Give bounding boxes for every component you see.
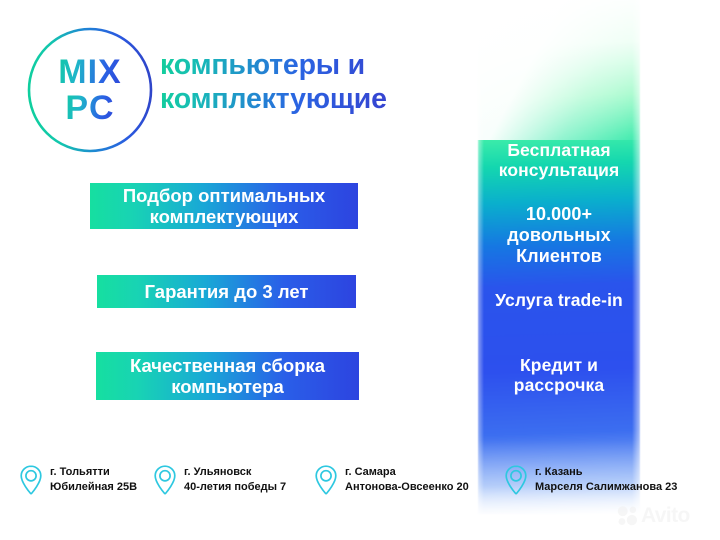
benefit-bar-components: Подбор оптимальных комплектующих xyxy=(90,183,358,229)
brand-logo: MIX PC xyxy=(25,25,155,155)
panel-feature-clients: 10.000+ довольных Клиентов xyxy=(478,204,640,267)
location-address: г. Тольятти Юбилейная 25В xyxy=(50,465,137,495)
logo-line-pc: PC xyxy=(65,91,114,126)
page-title: компьютеры и комплектующие xyxy=(160,49,490,116)
location-city: г. Тольятти xyxy=(50,465,137,480)
avito-watermark: Avito xyxy=(617,505,690,526)
map-pin-icon xyxy=(152,464,178,496)
location-item: г. Ульяновск 40-летия победы 7 xyxy=(152,464,286,496)
location-city: г. Казань xyxy=(535,465,677,480)
location-address: г. Казань Марселя Салимжанова 23 xyxy=(535,465,677,495)
avito-dots-icon xyxy=(617,505,638,526)
panel-feature-consultation: Бесплатная консультация xyxy=(478,140,640,181)
logo-wordmark: MIX PC xyxy=(25,25,155,155)
location-item: г. Самара Антонова-Овсеенко 20 xyxy=(313,464,469,496)
avito-watermark-label: Avito xyxy=(641,505,690,526)
location-street: Антонова-Овсеенко 20 xyxy=(345,480,469,495)
location-street: Юбилейная 25В xyxy=(50,480,137,495)
location-city: г. Самара xyxy=(345,465,469,480)
location-address: г. Самара Антонова-Овсеенко 20 xyxy=(345,465,469,495)
map-pin-icon xyxy=(18,464,44,496)
promo-banner: Бесплатная консультация 10.000+ довольны… xyxy=(0,0,720,540)
benefit-bar-warranty: Гарантия до 3 лет xyxy=(97,275,356,308)
logo-line-mix: MIX xyxy=(58,55,121,90)
location-street: 40-летия победы 7 xyxy=(184,480,286,495)
locations-row: г. Тольятти Юбилейная 25В г. Ульяновск 4… xyxy=(0,460,720,516)
map-pin-icon xyxy=(313,464,339,496)
panel-feature-credit: Кредит и рассрочка xyxy=(478,355,640,396)
location-item: г. Тольятти Юбилейная 25В xyxy=(18,464,137,496)
map-pin-icon xyxy=(503,464,529,496)
benefit-bar-assembly: Качественная сборка компьютера xyxy=(96,352,359,400)
location-street: Марселя Салимжанова 23 xyxy=(535,480,677,495)
location-address: г. Ульяновск 40-летия победы 7 xyxy=(184,465,286,495)
location-item: г. Казань Марселя Салимжанова 23 xyxy=(503,464,677,496)
location-city: г. Ульяновск xyxy=(184,465,286,480)
panel-feature-tradein: Услуга trade-in xyxy=(478,290,640,310)
